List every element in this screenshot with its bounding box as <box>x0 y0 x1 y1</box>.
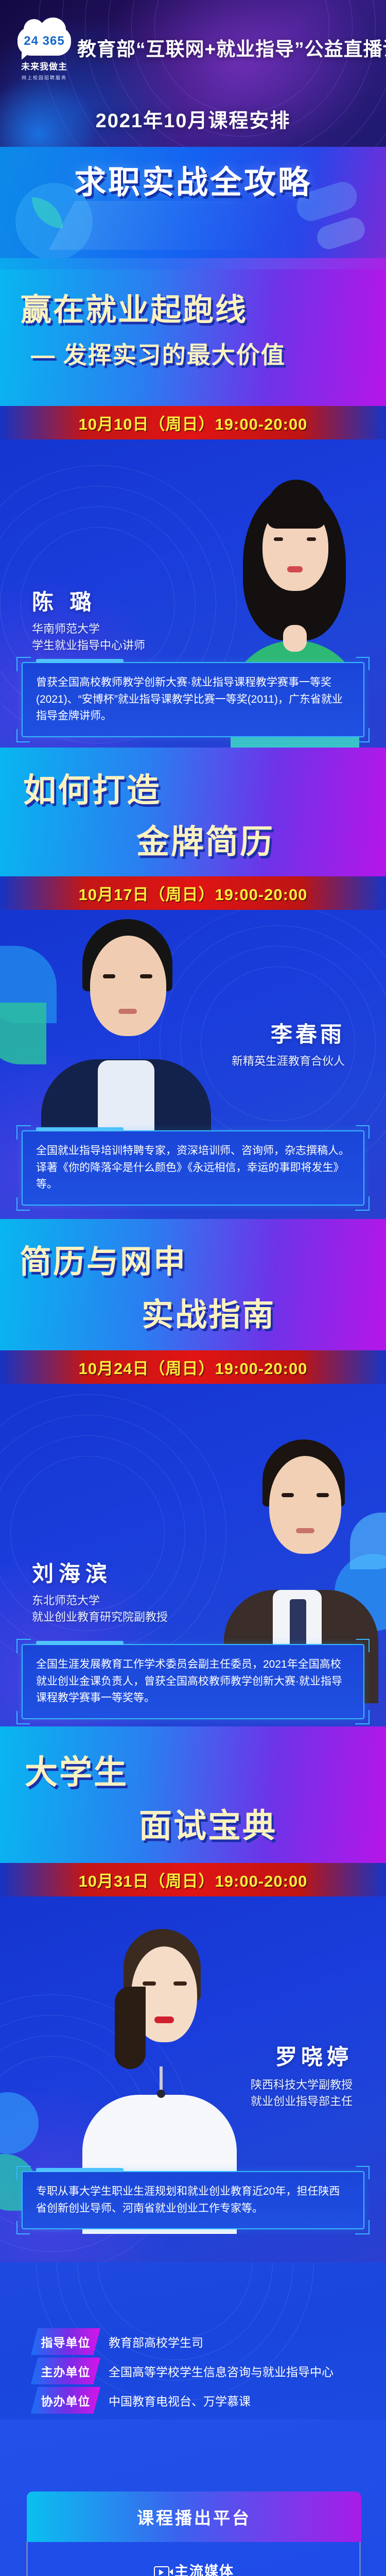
session-title-line2: — 发挥实习的最大价值 <box>31 336 286 370</box>
session-title-line1: 大学生 <box>25 1746 128 1793</box>
platform-panel-header: 课程播出平台 <box>27 2492 361 2542</box>
header-subtitle: 2021年10月课程安排 <box>0 105 386 133</box>
session-date-1: 10月10日（周日）19:00-20:00 <box>79 411 308 434</box>
cloud-tail-icon <box>22 53 30 60</box>
speaker-block-2: 李春雨 新精英生涯教育合伙人 全国就业指导培训特聘专家，资深培训师、咨询师，杂志… <box>0 910 386 1219</box>
header-title: 教育部“互联网+就业指导”公益直播课 <box>77 33 378 61</box>
organizers-section: 指导单位 教育部高校学生司 主办单位 全国高等学校学生信息咨询与就业指导中心 协… <box>0 2262 386 2419</box>
video-camera-icon <box>154 2566 169 2576</box>
organizer-row: 主办单位 全国高等学校学生信息咨询与就业指导中心 <box>31 2358 334 2384</box>
logo-slogan: 未来我做主 <box>21 59 67 72</box>
speaker-name-1: 陈 璐 <box>32 585 97 616</box>
organizer-tag: 协办单位 <box>31 2387 100 2414</box>
bio-tab-decoration <box>36 2168 124 2172</box>
session-datebar-2: 10月17日（周日）19:00-20:00 <box>0 876 386 910</box>
session-date-2: 10月17日（周日）19:00-20:00 <box>79 882 308 905</box>
speaker-org-line2-4: 就业创业指导部主任 <box>251 2093 353 2110</box>
session-title-line2: 面试宝典 <box>139 1800 277 1847</box>
speaker-org-line1-2: 新精英生涯教育合伙人 <box>232 1053 345 1070</box>
speaker-bio-text-3: 全国生涯发展教育工作学术委员会副主任委员，2021年全国高校就业创业金课负责人，… <box>36 1658 342 1704</box>
platform-panel: 课程播出平台 主流媒体 学习强国xuexi.cn NEWS 新华网 央视频 <box>27 2492 360 2576</box>
session-datebar-4: 10月31日（周日）19:00-20:00 <box>0 1863 386 1896</box>
session-date-4: 10月31日（周日）19:00-20:00 <box>79 1868 308 1891</box>
speaker-block-3: 刘海滨 东北师范大学 就业创业教育研究院副教授 全国生涯发展教育工作学术委员会副… <box>0 1384 386 1726</box>
bio-tab-decoration <box>36 1127 124 1131</box>
session-date-3: 10月24日（周日）19:00-20:00 <box>79 1355 308 1379</box>
poster-header: 24 365 未来我做主 网上校园招聘服务 教育部“互联网+就业指导”公益直播课… <box>0 0 386 147</box>
session-datebar-3: 10月24日（周日）19:00-20:00 <box>0 1350 386 1384</box>
organizer-tag: 指导单位 <box>31 2328 100 2355</box>
speaker-org-line1-3: 东北师范大学 <box>32 1592 168 1609</box>
main-title: 求职实战全攻略 <box>0 156 386 202</box>
organizer-value: 全国高等学校学生信息咨询与就业指导中心 <box>109 2362 334 2380</box>
session-title-line2: 金牌简历 <box>136 816 274 863</box>
speaker-bio-text-4: 专职从事大学生职业生涯规划和就业创业教育近20年，担任陕西省创新创业导师、河南省… <box>36 2185 340 2214</box>
speaker-block-1: 陈 璐 华南师范大学 学生就业指导中心讲师 曾获全国高校教师教学创新大赛·就业指… <box>0 439 386 748</box>
platform-section: 课程播出平台 主流媒体 学习强国xuexi.cn NEWS 新华网 央视频 <box>0 2419 386 2576</box>
organizer-value: 教育部高校学生司 <box>109 2333 203 2350</box>
speaker-bio-4: 专职从事大学生职业生涯规划和就业创业教育近20年，担任陕西省创新创业导师、河南省… <box>22 2171 364 2229</box>
session-title-1: 赢在就业起跑线 — 发挥实习的最大价值 <box>0 269 386 406</box>
session-title-2: 如何打造 金牌简历 <box>0 748 386 876</box>
session-title-4: 大学生 面试宝典 <box>0 1726 386 1863</box>
main-title-band: 求职实战全攻略 <box>0 147 386 269</box>
speaker-ring-decoration <box>0 1389 232 1677</box>
platform-panel-title: 课程播出平台 <box>137 2504 251 2529</box>
speaker-name-4: 罗晓婷 <box>275 2040 353 2071</box>
gradient-divider <box>0 258 386 269</box>
decor-capsule-2 <box>314 214 368 252</box>
speaker-name-3: 刘海滨 <box>32 1556 112 1588</box>
brand-logo: 24 365 未来我做主 网上校园招聘服务 <box>15 27 73 89</box>
session-title-line2: 实战指南 <box>142 1289 275 1335</box>
organizer-row: 指导单位 教育部高校学生司 <box>31 2328 203 2355</box>
speaker-org-line1-4: 陕西科技大学副教授 <box>251 2077 353 2093</box>
speaker-name-2: 李春雨 <box>271 1017 345 1048</box>
bio-tab-decoration <box>36 659 124 663</box>
decor-diagonal <box>49 201 296 250</box>
session-title-line1: 简历与网申 <box>20 1235 187 1282</box>
session-title-line1: 如何打造 <box>23 764 161 811</box>
cloud-icon: 24 365 <box>17 27 71 56</box>
speaker-org-line2-1: 学生就业指导中心讲师 <box>32 637 145 654</box>
bio-tab-decoration <box>36 1641 124 1645</box>
speaker-bio-2: 全国就业指导培训特聘专家，资深培训师、咨询师，杂志撰稿人。译著《你的降落伞是什么… <box>22 1130 364 1206</box>
organizer-value: 中国教育电视台、万学慕课 <box>109 2392 251 2409</box>
logo-number: 24 365 <box>24 34 64 48</box>
speaker-bio-text-1: 曾获全国高校教师教学创新大赛·就业指导课程教学赛事一等奖(2021)、“安博杯”… <box>36 676 343 722</box>
speaker-org-line2-3: 就业创业教育研究院副教授 <box>32 1609 168 1625</box>
logo-subslogan: 网上校园招聘服务 <box>22 74 67 81</box>
organizer-tag: 主办单位 <box>31 2358 100 2384</box>
speaker-org-line1-1: 华南师范大学 <box>32 621 145 637</box>
speaker-block-4: 罗晓婷 陕西科技大学副教授 就业创业指导部主任 专职从事大学生职业生涯规划和就业… <box>0 1896 386 2262</box>
group-title-mainstream: 主流媒体 <box>27 2560 361 2576</box>
organizer-row: 协办单位 中国教育电视台、万学慕课 <box>31 2387 251 2414</box>
speaker-bio-3: 全国生涯发展教育工作学术委员会副主任委员，2021年全国高校就业创业金课负责人，… <box>22 1644 364 1719</box>
session-title-3: 简历与网申 实战指南 <box>0 1219 386 1350</box>
session-title-line1: 赢在就业起跑线 <box>21 285 248 330</box>
poster-page: 24 365 未来我做主 网上校园招聘服务 教育部“互联网+就业指导”公益直播课… <box>0 0 386 2576</box>
speaker-bio-1: 曾获全国高校教师教学创新大赛·就业指导课程教学赛事一等奖(2021)、“安博杯”… <box>22 662 364 737</box>
session-datebar-1: 10月10日（周日）19:00-20:00 <box>0 406 386 439</box>
speaker-bio-text-2: 全国就业指导培训特聘专家，资深培训师、咨询师，杂志撰稿人。译著《你的降落伞是什么… <box>36 1145 349 1190</box>
